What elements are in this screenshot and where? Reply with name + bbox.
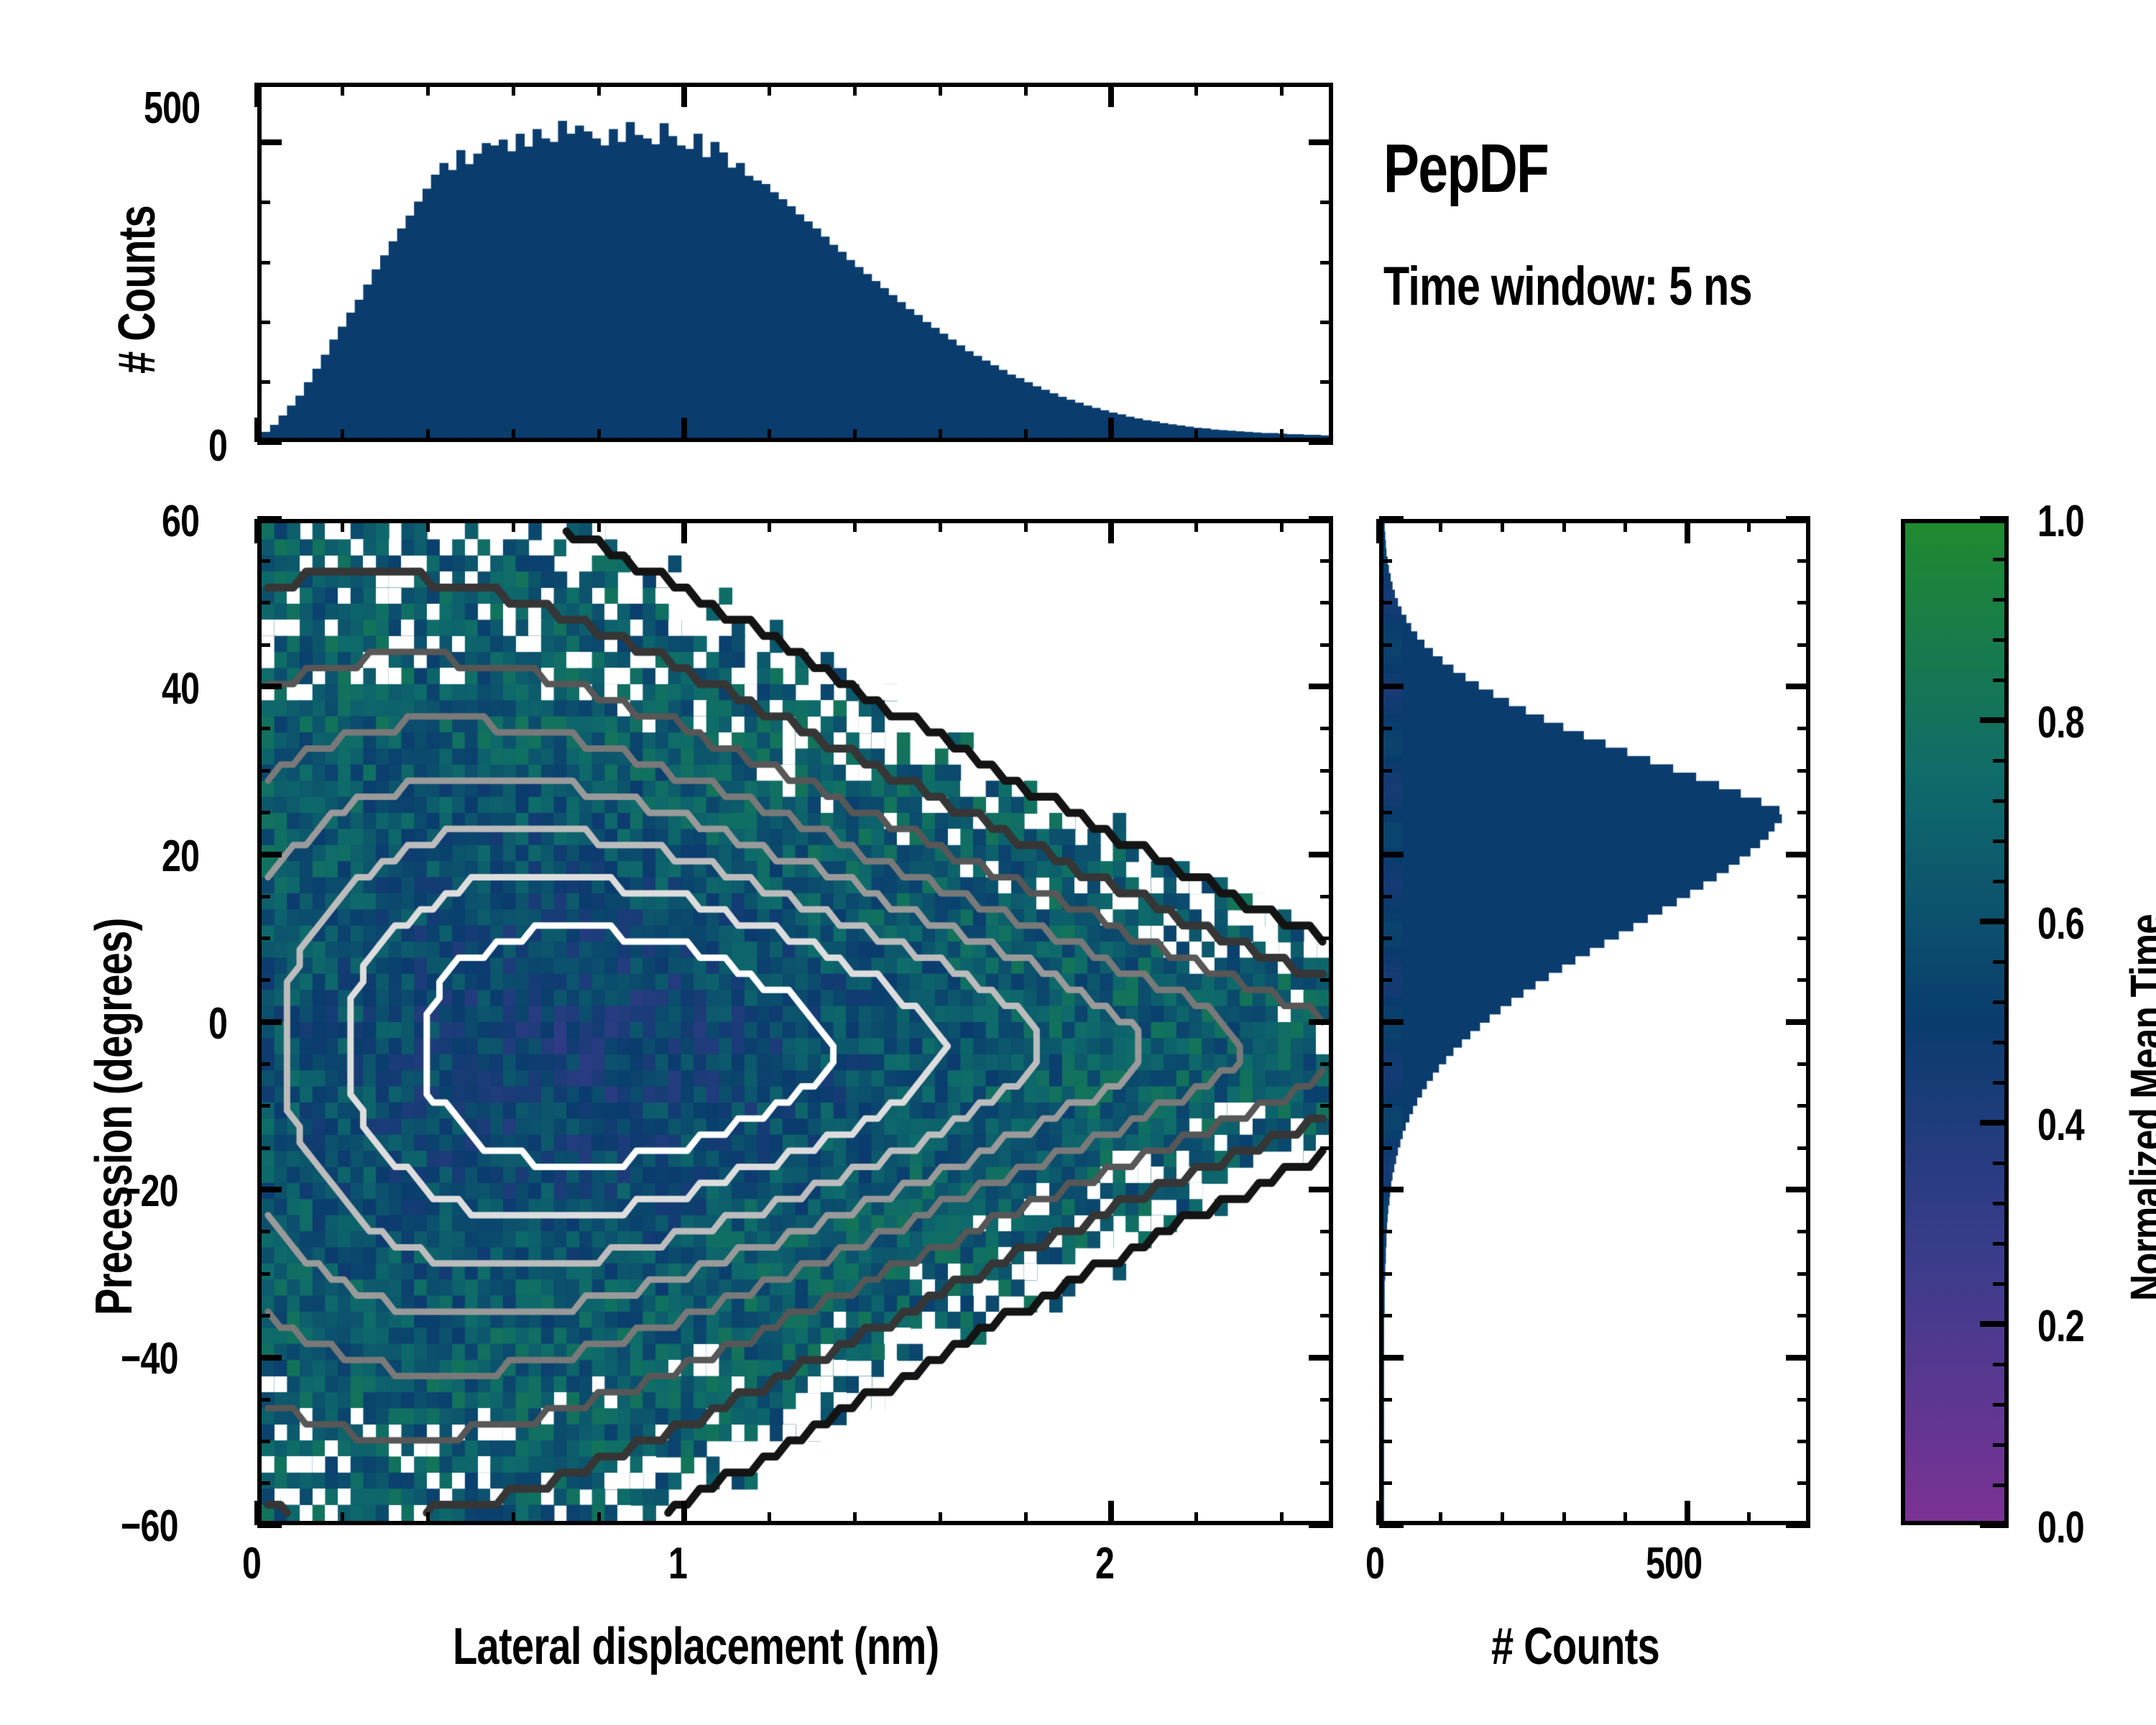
axis-tick xyxy=(1309,1522,1333,1528)
axis-tick xyxy=(257,895,270,898)
axis-tick xyxy=(1320,1104,1333,1108)
axis-tick xyxy=(939,519,942,532)
axis-tick xyxy=(1993,1202,2009,1205)
axis-tick xyxy=(341,1512,344,1525)
axis-tick xyxy=(1379,811,1392,814)
axis-tick xyxy=(1993,759,2009,763)
axis-tick xyxy=(1993,1161,2009,1165)
figure-subtitle: Time window: 5 ns xyxy=(1383,255,1752,318)
axis-tick xyxy=(341,519,344,532)
axis-tick xyxy=(426,429,430,442)
colorbar-tick-0-4: 0.4 xyxy=(2037,1100,2084,1151)
axis-tick xyxy=(1379,643,1392,647)
colorbar-gradient xyxy=(1905,523,2004,1521)
main-xlabel: Lateral displacement (nm) xyxy=(453,1617,939,1676)
right-hist-xtick-500: 500 xyxy=(1646,1538,1702,1589)
axis-tick xyxy=(1562,519,1566,532)
axis-tick xyxy=(426,519,430,532)
axis-tick xyxy=(1194,429,1198,442)
axis-tick xyxy=(257,1187,282,1192)
axis-tick xyxy=(1280,1512,1284,1525)
axis-tick xyxy=(257,937,270,940)
axis-tick xyxy=(681,418,687,442)
axis-tick xyxy=(1439,1512,1442,1525)
axis-tick xyxy=(257,1019,282,1025)
axis-tick xyxy=(1980,1522,2009,1528)
axis-tick xyxy=(341,429,344,442)
axis-tick xyxy=(1320,201,1333,204)
axis-tick xyxy=(1320,1440,1333,1443)
axis-tick xyxy=(1320,380,1333,384)
axis-tick xyxy=(257,811,270,814)
axis-tick xyxy=(597,519,601,532)
colorbar-tick-0-2: 0.2 xyxy=(2037,1301,2084,1352)
axis-tick xyxy=(1797,1062,1810,1066)
axis-tick xyxy=(1379,1187,1404,1192)
axis-tick xyxy=(1786,1019,1810,1025)
axis-tick xyxy=(1320,1062,1333,1066)
axis-tick xyxy=(1320,978,1333,982)
axis-tick xyxy=(853,519,857,532)
axis-tick xyxy=(1320,937,1333,940)
axis-tick xyxy=(1309,684,1333,689)
axis-tick xyxy=(1320,811,1333,814)
axis-tick xyxy=(681,519,687,543)
axis-tick xyxy=(1797,769,1810,773)
axis-tick xyxy=(1379,1019,1404,1025)
axis-tick xyxy=(257,321,270,324)
axis-tick xyxy=(1379,1355,1404,1361)
axis-tick xyxy=(1309,852,1333,857)
axis-tick xyxy=(1320,769,1333,773)
axis-tick xyxy=(1320,1398,1333,1402)
axis-tick xyxy=(1439,519,1442,532)
axis-tick xyxy=(1993,598,2009,602)
axis-tick xyxy=(254,418,260,442)
axis-tick xyxy=(1320,261,1333,264)
main-xtick-2: 2 xyxy=(1095,1538,1114,1589)
axis-tick xyxy=(1280,519,1284,532)
axis-tick xyxy=(1797,1272,1810,1276)
axis-tick xyxy=(1993,960,2009,964)
axis-tick xyxy=(1797,1104,1810,1108)
axis-tick xyxy=(768,429,771,442)
axis-tick xyxy=(1376,519,1382,543)
axis-tick xyxy=(597,83,601,96)
axis-tick xyxy=(254,519,260,543)
axis-tick xyxy=(1320,1146,1333,1150)
axis-tick xyxy=(1786,1355,1810,1361)
axis-tick xyxy=(1379,727,1392,730)
axis-tick xyxy=(1320,1272,1333,1276)
axis-tick xyxy=(939,83,942,96)
axis-tick xyxy=(1108,83,1114,107)
colorbar-tick-0-6: 0.6 xyxy=(2037,898,2084,949)
axis-tick xyxy=(1379,1104,1392,1108)
axis-tick xyxy=(1194,1512,1198,1525)
axis-tick xyxy=(1993,799,2009,803)
axis-tick xyxy=(1108,418,1114,442)
axis-tick xyxy=(1993,1282,2009,1286)
main-ytick-m40: −40 xyxy=(121,1333,178,1384)
axis-tick xyxy=(426,83,430,96)
axis-tick xyxy=(257,1355,282,1361)
axis-tick xyxy=(1379,1440,1392,1443)
axis-tick xyxy=(1747,519,1751,532)
axis-tick xyxy=(1379,684,1404,689)
axis-tick xyxy=(1379,895,1392,898)
axis-tick xyxy=(1379,769,1392,773)
axis-tick xyxy=(768,83,771,96)
axis-tick xyxy=(1797,643,1810,647)
colorbar-tick-0-0: 0.0 xyxy=(2037,1502,2084,1553)
axis-tick xyxy=(1797,1440,1810,1443)
axis-tick xyxy=(1980,516,2009,522)
axis-tick xyxy=(1280,429,1284,442)
axis-tick xyxy=(1786,516,1810,522)
main-ytick-m60: −60 xyxy=(121,1501,178,1552)
axis-tick xyxy=(1379,852,1404,857)
axis-tick xyxy=(1309,1187,1333,1192)
axis-tick xyxy=(1993,1081,2009,1085)
axis-tick xyxy=(1320,1314,1333,1317)
axis-tick xyxy=(257,1314,270,1317)
axis-tick xyxy=(1379,1481,1392,1485)
axis-tick xyxy=(257,559,270,563)
axis-tick xyxy=(257,727,270,730)
axis-tick xyxy=(257,1230,270,1233)
axis-tick xyxy=(1379,1314,1392,1317)
axis-tick xyxy=(1993,1483,2009,1487)
colorbar-label: Normalized Mean Time xyxy=(2120,914,2156,1301)
axis-tick xyxy=(1379,1146,1392,1150)
axis-tick xyxy=(257,1398,270,1402)
axis-tick xyxy=(1797,727,1810,730)
top-hist-ylabel: # Counts xyxy=(108,206,167,374)
axis-tick xyxy=(257,1522,282,1528)
main-ytick-60: 60 xyxy=(162,496,199,547)
axis-tick xyxy=(257,769,270,773)
axis-tick xyxy=(1194,519,1198,532)
axis-tick xyxy=(1309,1019,1333,1025)
axis-tick xyxy=(768,1512,771,1525)
axis-tick xyxy=(1024,519,1028,532)
axis-tick xyxy=(1797,895,1810,898)
axis-tick xyxy=(254,83,260,107)
axis-tick xyxy=(1309,1355,1333,1361)
axis-tick xyxy=(1797,601,1810,604)
axis-tick xyxy=(257,261,270,264)
figure-canvas: 500 0 # Counts 60 40 20 0 −20 −40 −60 Pr… xyxy=(0,0,2156,1725)
axis-tick xyxy=(1993,1443,2009,1447)
axis-tick xyxy=(1320,559,1333,563)
axis-tick xyxy=(257,643,270,647)
axis-tick xyxy=(1993,1000,2009,1004)
axis-tick xyxy=(1309,516,1333,522)
right-marginal-histogram-panel xyxy=(1379,519,1810,1525)
top-histogram-canvas xyxy=(262,87,1329,438)
axis-tick xyxy=(1379,978,1392,982)
axis-tick xyxy=(853,429,857,442)
axis-tick xyxy=(1786,1522,1810,1528)
main-xtick-1: 1 xyxy=(668,1538,687,1589)
axis-tick xyxy=(1379,601,1392,604)
axis-tick xyxy=(512,1512,515,1525)
axis-tick xyxy=(426,1512,430,1525)
axis-tick xyxy=(257,380,270,384)
axis-tick xyxy=(1993,1363,2009,1366)
main-heatmap-panel xyxy=(257,519,1333,1525)
axis-tick xyxy=(257,139,282,145)
axis-tick xyxy=(1993,1242,2009,1246)
axis-tick xyxy=(1501,519,1504,532)
right-histogram-canvas xyxy=(1383,523,1806,1521)
axis-tick xyxy=(1379,1398,1392,1402)
axis-tick xyxy=(1320,727,1333,730)
axis-tick xyxy=(1320,1481,1333,1485)
axis-tick xyxy=(1562,1512,1566,1525)
axis-tick xyxy=(1993,880,2009,883)
axis-tick xyxy=(1623,1512,1627,1525)
top-hist-ytick-0: 0 xyxy=(208,420,227,471)
axis-tick xyxy=(1320,1230,1333,1233)
axis-tick xyxy=(1797,1314,1810,1317)
top-marginal-histogram-panel xyxy=(257,83,1333,442)
axis-tick xyxy=(512,83,515,96)
main-ytick-0: 0 xyxy=(208,998,227,1049)
axis-tick xyxy=(1797,811,1810,814)
right-hist-xtick-0: 0 xyxy=(1365,1538,1384,1589)
axis-tick xyxy=(257,1272,270,1276)
axis-tick xyxy=(597,429,601,442)
axis-tick xyxy=(1108,1501,1114,1525)
axis-tick xyxy=(1320,321,1333,324)
axis-tick xyxy=(1194,83,1198,96)
colorbar-frame xyxy=(1901,519,2009,1525)
axis-tick xyxy=(1797,1481,1810,1485)
axis-tick xyxy=(257,601,270,604)
axis-tick xyxy=(1379,1272,1392,1276)
axis-tick xyxy=(939,1512,942,1525)
axis-tick xyxy=(1309,139,1333,145)
axis-tick xyxy=(1993,1403,2009,1407)
axis-tick xyxy=(1980,919,2009,924)
axis-tick xyxy=(1797,1230,1810,1233)
axis-tick xyxy=(512,429,515,442)
axis-tick xyxy=(1379,937,1392,940)
axis-tick xyxy=(257,1062,270,1066)
axis-tick xyxy=(1108,519,1114,543)
axis-tick xyxy=(257,1440,270,1443)
axis-tick xyxy=(1376,1501,1382,1525)
axis-tick xyxy=(257,516,282,522)
axis-tick xyxy=(1786,684,1810,689)
axis-tick xyxy=(1623,519,1627,532)
axis-tick xyxy=(512,519,515,532)
axis-tick xyxy=(1797,978,1810,982)
axis-tick xyxy=(1024,429,1028,442)
axis-tick xyxy=(257,1104,270,1108)
axis-tick xyxy=(257,978,270,982)
main-ytick-40: 40 xyxy=(162,663,199,714)
axis-tick xyxy=(1797,1398,1810,1402)
axis-tick xyxy=(1993,558,2009,561)
main-ylabel: Precession (degrees) xyxy=(85,918,144,1315)
axis-tick xyxy=(681,1501,687,1525)
axis-tick xyxy=(1993,1041,2009,1044)
axis-tick xyxy=(257,684,282,689)
axis-tick xyxy=(1797,559,1810,563)
axis-tick xyxy=(1379,1230,1392,1233)
axis-tick xyxy=(1797,1146,1810,1150)
colorbar-tick-1-0: 1.0 xyxy=(2037,496,2084,547)
axis-tick xyxy=(1786,1187,1810,1192)
axis-tick xyxy=(1309,439,1333,445)
axis-tick xyxy=(1379,516,1404,522)
axis-tick xyxy=(1024,83,1028,96)
axis-tick xyxy=(257,852,282,857)
axis-tick xyxy=(1786,852,1810,857)
axis-tick xyxy=(257,201,270,204)
axis-tick xyxy=(1320,601,1333,604)
axis-tick xyxy=(341,83,344,96)
axis-tick xyxy=(257,1146,270,1150)
axis-tick xyxy=(1747,1512,1751,1525)
axis-tick xyxy=(1980,1120,2009,1126)
axis-tick xyxy=(1379,1062,1392,1066)
top-hist-ytick-500: 500 xyxy=(144,83,200,134)
axis-tick xyxy=(1993,638,2009,642)
axis-tick xyxy=(853,1512,857,1525)
axis-tick xyxy=(1379,559,1392,563)
axis-tick xyxy=(1320,643,1333,647)
axis-tick xyxy=(1980,1321,2009,1327)
axis-tick xyxy=(257,1481,270,1485)
axis-tick xyxy=(681,83,687,107)
axis-tick xyxy=(1685,1501,1690,1525)
axis-tick xyxy=(1379,1522,1404,1528)
main-ytick-20: 20 xyxy=(162,831,199,882)
axis-tick xyxy=(597,1512,601,1525)
axis-tick xyxy=(1797,937,1810,940)
main-xtick-0: 0 xyxy=(242,1538,261,1589)
axis-tick xyxy=(1980,717,2009,723)
axis-tick xyxy=(1024,1512,1028,1525)
axis-tick xyxy=(1993,678,2009,682)
axis-tick xyxy=(1685,519,1690,543)
axis-tick xyxy=(254,1501,260,1525)
axis-tick xyxy=(1320,895,1333,898)
axis-tick xyxy=(768,519,771,532)
colorbar-tick-0-8: 0.8 xyxy=(2037,697,2084,748)
heatmap-canvas xyxy=(262,523,1329,1521)
axis-tick xyxy=(939,429,942,442)
axis-tick xyxy=(257,439,282,445)
axis-tick xyxy=(1280,83,1284,96)
right-hist-xlabel: # Counts xyxy=(1491,1617,1659,1676)
axis-tick xyxy=(853,83,857,96)
axis-tick xyxy=(1501,1512,1504,1525)
axis-tick xyxy=(1993,839,2009,843)
figure-title: PepDF xyxy=(1383,129,1548,208)
